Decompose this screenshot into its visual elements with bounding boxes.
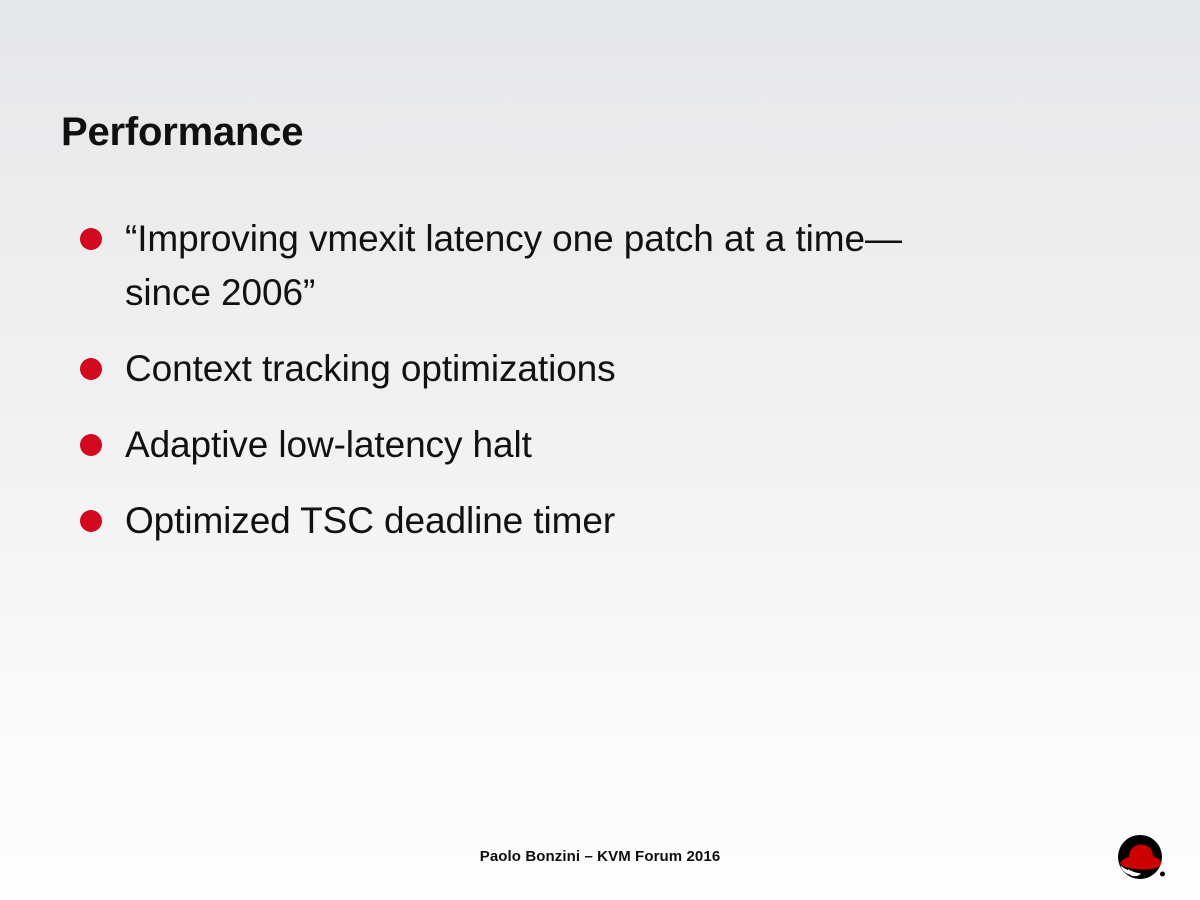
presentation-slide: Performance “Improving vmexit latency on… xyxy=(0,0,1200,900)
list-item: Adaptive low-latency halt xyxy=(78,418,1118,472)
list-item-label: “Improving vmexit latency one patch at a… xyxy=(125,212,925,320)
bullet-marker-icon xyxy=(80,510,102,532)
bullet-marker-icon xyxy=(80,434,102,456)
bullet-marker-icon xyxy=(80,358,102,380)
list-item-label: Optimized TSC deadline timer xyxy=(125,494,925,548)
page-title: Performance xyxy=(61,110,303,155)
list-item-label: Adaptive low-latency halt xyxy=(125,418,925,472)
list-item: Context tracking optimizations xyxy=(78,342,1118,396)
list-item-label: Context tracking optimizations xyxy=(125,342,925,396)
list-item: Optimized TSC deadline timer xyxy=(78,494,1118,548)
bullet-marker-icon xyxy=(80,228,102,250)
slide-footer: Paolo Bonzini – KVM Forum 2016 xyxy=(0,848,1200,865)
list-item: “Improving vmexit latency one patch at a… xyxy=(78,212,1118,320)
red-hat-shadowman-logo-icon xyxy=(1114,832,1172,884)
bullet-list: “Improving vmexit latency one patch at a… xyxy=(78,212,1118,548)
